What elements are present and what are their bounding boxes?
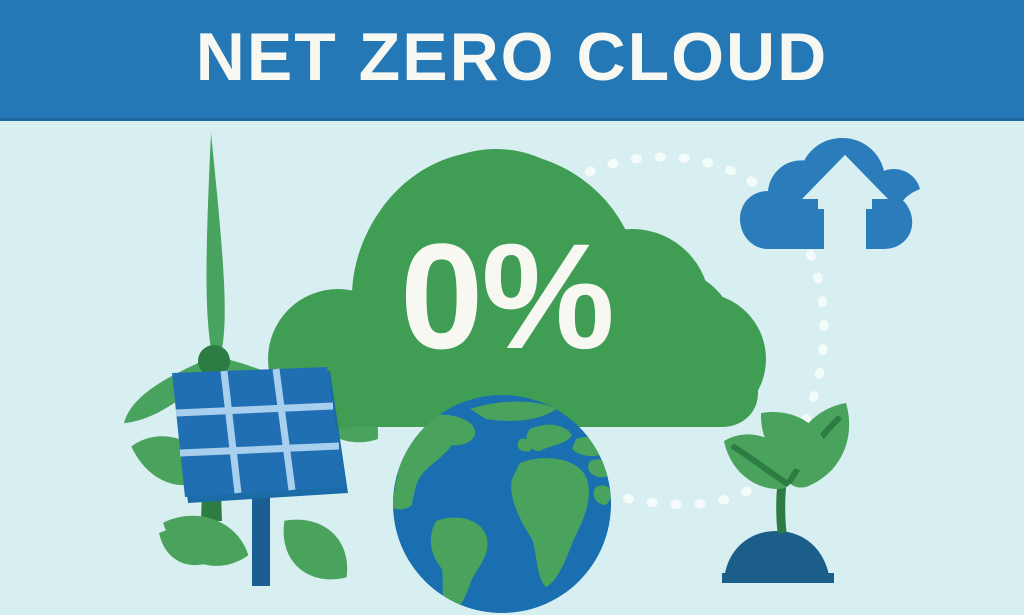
header-banner: NET ZERO CLOUD: [0, 0, 1024, 118]
net-zero-cloud-poster: NET ZERO CLOUD: [0, 0, 1024, 615]
page-title: NET ZERO CLOUD: [196, 23, 828, 95]
right-edge-leaf-layer: [0, 121, 1024, 615]
leaf-right-edge: [751, 408, 842, 477]
illustration-stage: 0%: [0, 121, 1024, 615]
